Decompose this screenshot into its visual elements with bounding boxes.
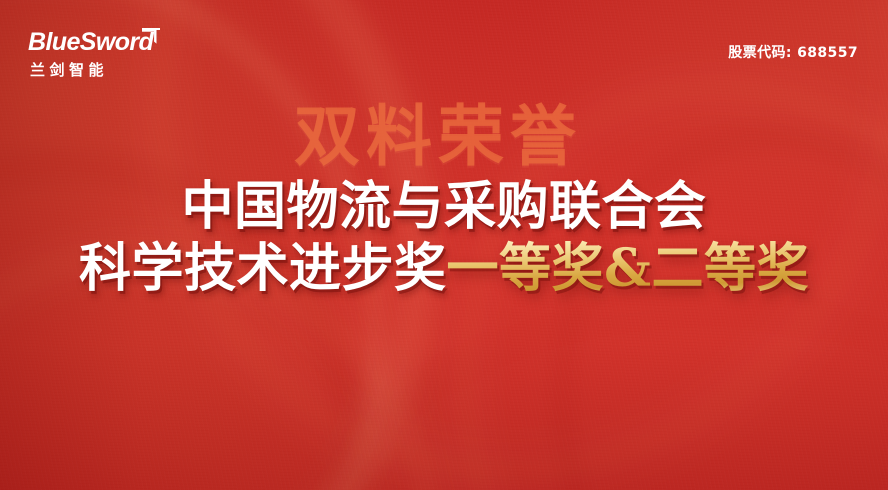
stock-code-label: 股票代码: 688557 [728,42,858,62]
headline-line-2-gold: 一等奖&二等奖 [447,238,809,299]
headline-line-1: 中国物流与采购联合会 [0,180,888,234]
company-logo[interactable]: BlueSword 兰剑智能 [28,30,158,84]
flag-pennant-icon [140,26,162,46]
headline-block: 中国物流与采购联合会 科学技术进步奖一等奖&二等奖 [0,180,888,296]
headline-line-2-white: 科学技术进步奖 [79,238,447,299]
watermark-text: 双料荣誉 [0,104,882,170]
logo-wordmark: BlueSword [28,30,153,55]
logo-chinese-name: 兰剑智能 [30,59,108,80]
headline-line-2: 科学技术进步奖一等奖&二等奖 [0,242,888,296]
award-announcement-banner: 双料荣誉 BlueSword 兰剑智能 股票代码: 688557 中国物流与采购… [0,0,888,490]
